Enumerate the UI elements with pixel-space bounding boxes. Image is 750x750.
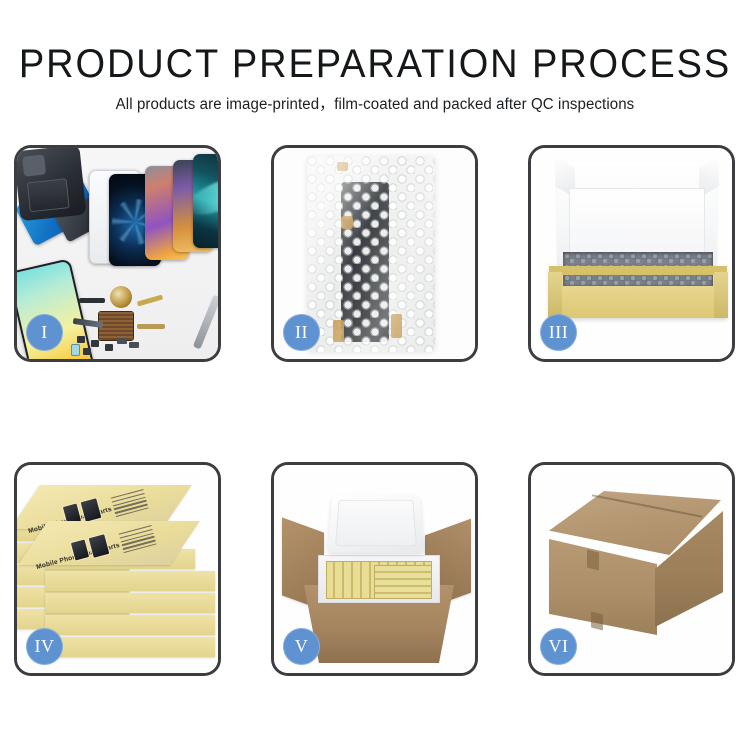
earpiece-mesh xyxy=(79,298,105,303)
small-chip-6 xyxy=(83,348,91,355)
plastic-sheen xyxy=(307,156,435,352)
small-chip-5 xyxy=(129,342,139,348)
process-step-panel-2[interactable]: II xyxy=(271,145,478,362)
gold-flex-strip xyxy=(137,324,165,329)
small-chip-4 xyxy=(117,338,127,344)
printed-box-top-2 xyxy=(18,521,200,565)
phone-back-housing xyxy=(17,148,86,221)
step-badge-2: II xyxy=(283,314,320,351)
phone-teal-screen xyxy=(193,154,218,248)
step-badge-5: V xyxy=(283,628,320,665)
step-badge-3: III xyxy=(540,314,577,351)
stacked-box-front-3 xyxy=(45,593,215,613)
product-preparation-infographic: PRODUCT PREPARATION PROCESS All products… xyxy=(0,0,750,750)
process-step-panel-6[interactable]: VI xyxy=(528,462,735,676)
stacked-box-front-5 xyxy=(45,637,215,657)
stacked-box-front-2 xyxy=(45,571,215,591)
flex-cable-2 xyxy=(137,295,163,307)
stacked-box-front-4 xyxy=(45,615,215,635)
speaker-coil-component xyxy=(110,286,132,308)
process-step-grid: I II xyxy=(0,0,750,750)
open-kraft-box xyxy=(549,266,727,318)
step-badge-6: VI xyxy=(540,628,577,665)
tweezers-tool xyxy=(193,295,218,350)
styrofoam-lid xyxy=(327,495,425,553)
small-chip-3 xyxy=(105,344,113,351)
mini-display-part xyxy=(71,344,80,356)
step-badge-4: IV xyxy=(26,628,63,665)
process-step-panel-4[interactable]: Mobile Phone Spare Parts Mobile Phone Sp… xyxy=(14,462,221,676)
process-step-panel-5[interactable]: V xyxy=(271,462,478,676)
process-step-panel-3[interactable]: III xyxy=(528,145,735,362)
bubble-wrap-pouch xyxy=(307,156,435,352)
small-chip-2 xyxy=(91,340,99,347)
yellow-boxes-row-2 xyxy=(374,565,432,599)
small-chip-1 xyxy=(77,336,85,343)
carton-tab-lower xyxy=(591,612,603,631)
carton-tab-upper xyxy=(587,550,599,571)
process-step-panel-1[interactable]: I xyxy=(14,145,221,362)
step-badge-1: I xyxy=(26,314,63,351)
copper-grid-component xyxy=(99,312,133,340)
